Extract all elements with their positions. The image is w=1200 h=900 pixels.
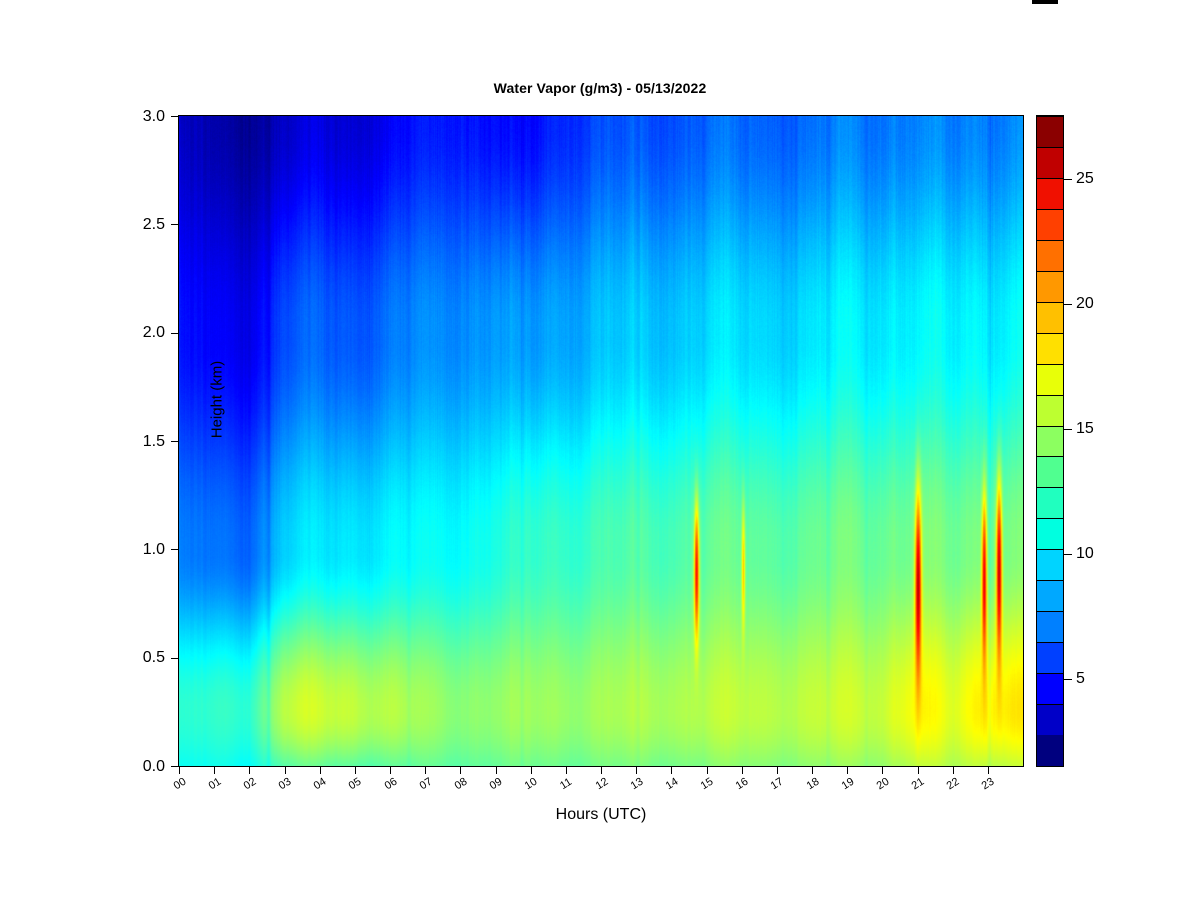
x-axis-tick: 16 (742, 766, 743, 774)
y-axis-tick: 1.5 (171, 441, 179, 442)
x-axis-tick-label: 15 (699, 776, 716, 793)
x-axis-tick-label: 17 (769, 776, 786, 793)
x-axis-tick-label: 12 (593, 776, 610, 793)
colorbar-band (1037, 333, 1063, 364)
colorbar-band (1037, 580, 1063, 611)
colorbar-band (1037, 426, 1063, 457)
colorbar-band (1037, 116, 1063, 147)
x-axis-tick: 21 (918, 766, 919, 774)
colorbar-band (1037, 302, 1063, 333)
colorbar-band (1037, 178, 1063, 209)
y-axis-tick-label: 2.5 (143, 216, 165, 234)
page-title: Water Vapor (g/m3) - 05/13/2022 (178, 80, 1022, 96)
colorbar-band (1037, 395, 1063, 426)
x-axis-tick-label: 16 (734, 776, 751, 793)
colorbar-band (1037, 240, 1063, 271)
x-axis-tick: 03 (285, 766, 286, 774)
y-axis-tick: 1.0 (171, 549, 179, 550)
x-axis-tick: 04 (320, 766, 321, 774)
colorbar-tick-label: 10 (1076, 545, 1094, 563)
y-axis-tick-label: 0.0 (143, 758, 165, 776)
x-axis-tick-label: 07 (417, 776, 434, 793)
heatmap-plot-area: Height (km) Hours (UTC) 0.00.51.01.52.02… (178, 115, 1024, 767)
x-axis-tick: 19 (847, 766, 848, 774)
colorbar-band (1037, 611, 1063, 642)
colorbar-band (1037, 364, 1063, 395)
water-vapor-heatmap (179, 116, 1023, 766)
x-axis-tick: 13 (636, 766, 637, 774)
x-axis-tick: 05 (355, 766, 356, 774)
x-axis-tick-label: 09 (488, 776, 505, 793)
y-axis-tick: 0.0 (171, 766, 179, 767)
x-axis-tick-label: 13 (628, 776, 645, 793)
x-axis-tick-label: 04 (312, 776, 329, 793)
y-axis-tick: 2.5 (171, 224, 179, 225)
x-axis-tick-label: 00 (171, 776, 188, 793)
x-axis-tick-label: 05 (347, 776, 364, 793)
x-axis-tick: 10 (531, 766, 532, 774)
x-axis-tick: 14 (671, 766, 672, 774)
x-axis-tick-label: 22 (945, 776, 962, 793)
colorbar-tick: 25 (1063, 179, 1072, 180)
colorbar-tick-label: 25 (1076, 170, 1094, 188)
x-axis-tick: 00 (179, 766, 180, 774)
x-axis-tick: 08 (460, 766, 461, 774)
x-axis-tick-label: 11 (558, 776, 574, 792)
x-axis-tick: 22 (953, 766, 954, 774)
top-edge-artifact-bar (1032, 0, 1058, 4)
colorbar-band (1037, 735, 1063, 766)
colorbar-band (1037, 456, 1063, 487)
colorbar-tick: 10 (1063, 554, 1072, 555)
x-axis-tick: 02 (249, 766, 250, 774)
x-axis-tick-label: 10 (523, 776, 540, 793)
x-axis-tick: 11 (566, 766, 567, 774)
x-axis-tick: 12 (601, 766, 602, 774)
y-axis-tick-label: 1.0 (143, 541, 165, 559)
x-axis-tick-label: 06 (382, 776, 399, 793)
x-axis-tick: 18 (812, 766, 813, 774)
colorbar-tick: 20 (1063, 304, 1072, 305)
colorbar-tick-label: 5 (1076, 670, 1085, 688)
colorbar: 510152025 (1036, 115, 1064, 767)
y-axis-tick-label: 3.0 (143, 108, 165, 126)
x-axis-tick: 15 (707, 766, 708, 774)
colorbar-band (1037, 147, 1063, 178)
colorbar-tick-label: 20 (1076, 295, 1094, 313)
x-axis-tick-label: 20 (874, 776, 891, 793)
x-axis-tick-label: 23 (980, 776, 997, 793)
colorbar-band (1037, 518, 1063, 549)
colorbar-band (1037, 209, 1063, 240)
colorbar-band (1037, 549, 1063, 580)
colorbar-tick: 15 (1063, 429, 1072, 430)
x-axis-tick: 20 (882, 766, 883, 774)
colorbar-band (1037, 642, 1063, 673)
x-axis-tick-label: 18 (804, 776, 821, 793)
x-axis-tick-label: 03 (277, 776, 294, 793)
x-axis-tick: 23 (988, 766, 989, 774)
x-axis-tick-label: 21 (910, 776, 927, 793)
colorbar-band (1037, 271, 1063, 302)
colorbar-tick-label: 15 (1076, 420, 1094, 438)
x-axis-tick: 09 (496, 766, 497, 774)
x-axis-tick: 07 (425, 766, 426, 774)
x-axis-tick-label: 08 (452, 776, 469, 793)
figure-canvas: Water Vapor (g/m3) - 05/13/2022 Height (… (0, 0, 1200, 900)
y-axis-tick-label: 1.5 (143, 433, 165, 451)
y-axis-tick: 2.0 (171, 333, 179, 334)
x-axis-tick-label: 19 (839, 776, 856, 793)
y-axis-tick: 3.0 (171, 116, 179, 117)
y-axis-tick-label: 0.5 (143, 649, 165, 667)
x-axis-tick: 01 (214, 766, 215, 774)
x-axis-tick-label: 02 (241, 776, 258, 793)
y-axis-tick-label: 2.0 (143, 324, 165, 342)
x-axis-tick: 17 (777, 766, 778, 774)
colorbar-band (1037, 673, 1063, 704)
x-axis-tick-label: 14 (663, 776, 680, 793)
y-axis-tick: 0.5 (171, 658, 179, 659)
y-axis-label: Height (km) (209, 320, 226, 480)
x-axis-tick: 06 (390, 766, 391, 774)
colorbar-band (1037, 487, 1063, 518)
x-axis-label: Hours (UTC) (179, 806, 1023, 824)
colorbar-tick: 5 (1063, 679, 1072, 680)
colorbar-band (1037, 704, 1063, 735)
x-axis-tick-label: 01 (206, 776, 223, 793)
